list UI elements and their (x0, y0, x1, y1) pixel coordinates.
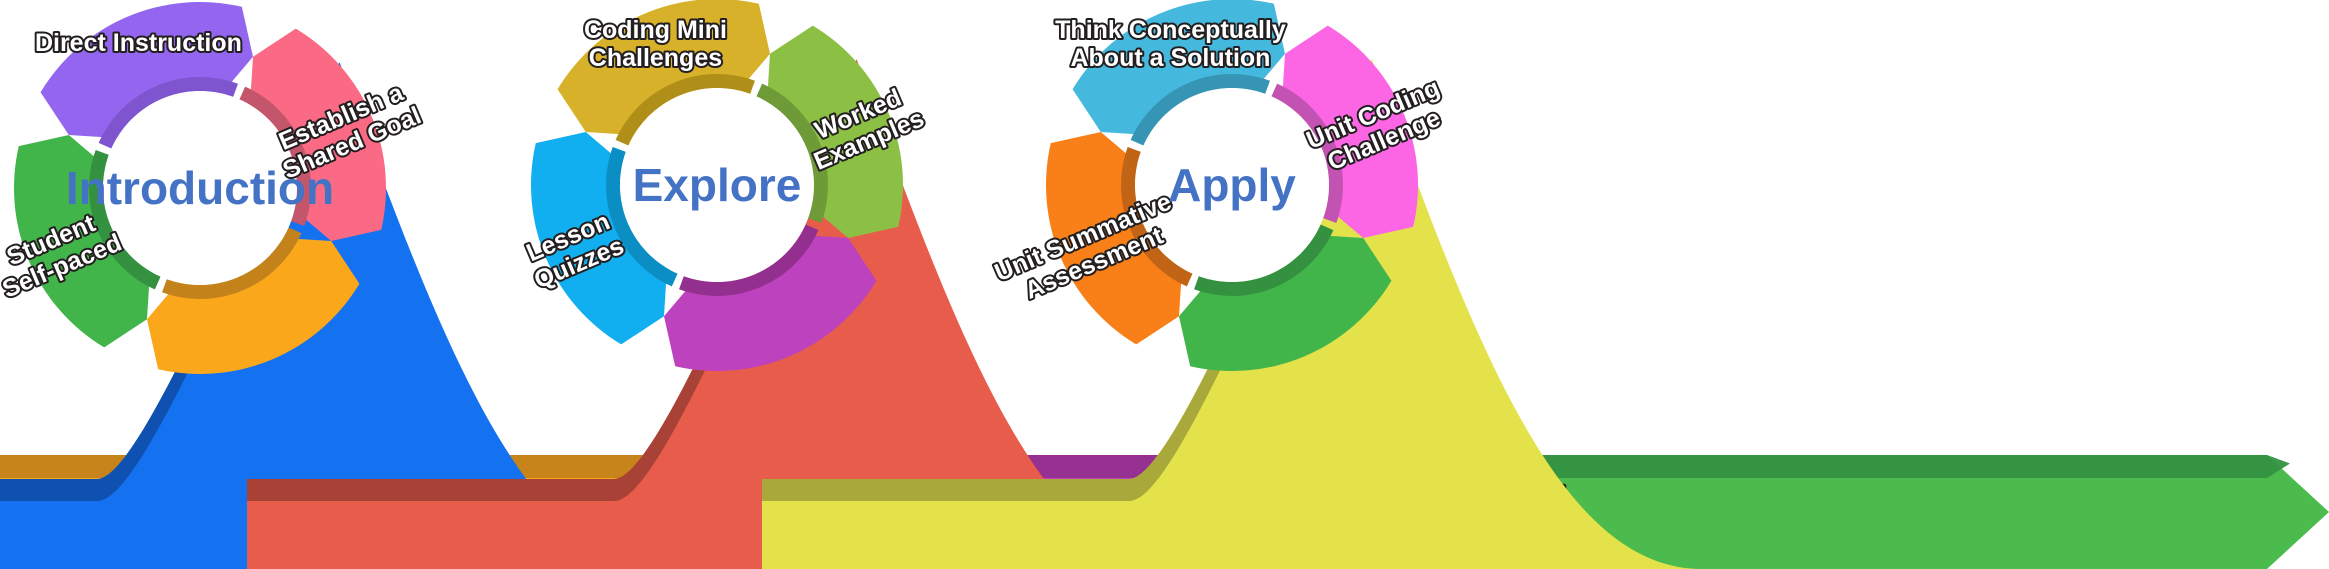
segment-label-line: Direct Instruction (35, 29, 242, 57)
segment-label-line: About a Solution (1070, 44, 1270, 72)
instructional-cycle-diagram: Foregroundingof SkillsCreating aSolution… (0, 0, 2329, 569)
segment-label-0: Think ConceptuallyAbout a Solution (1055, 16, 1286, 72)
phase-title-introduction: Introduction (66, 162, 334, 214)
phase-title-apply: Apply (1168, 159, 1296, 211)
segment-label-line: Think Conceptually (1055, 16, 1286, 44)
phase-title-explore: Explore (633, 159, 802, 211)
segment-label-0: Coding MiniChallenges (584, 16, 727, 72)
diagram-canvas: Foregroundingof SkillsCreating aSolution… (0, 0, 2329, 569)
segment-label-line: Coding Mini (584, 16, 727, 44)
segment-label-0: Direct Instruction (35, 29, 242, 57)
banner-top-shade (1520, 455, 2290, 478)
circle-layer: Direct InstructionEstablish aShared Goal… (0, 0, 1455, 374)
segment-label-line: Challenges (589, 44, 722, 72)
